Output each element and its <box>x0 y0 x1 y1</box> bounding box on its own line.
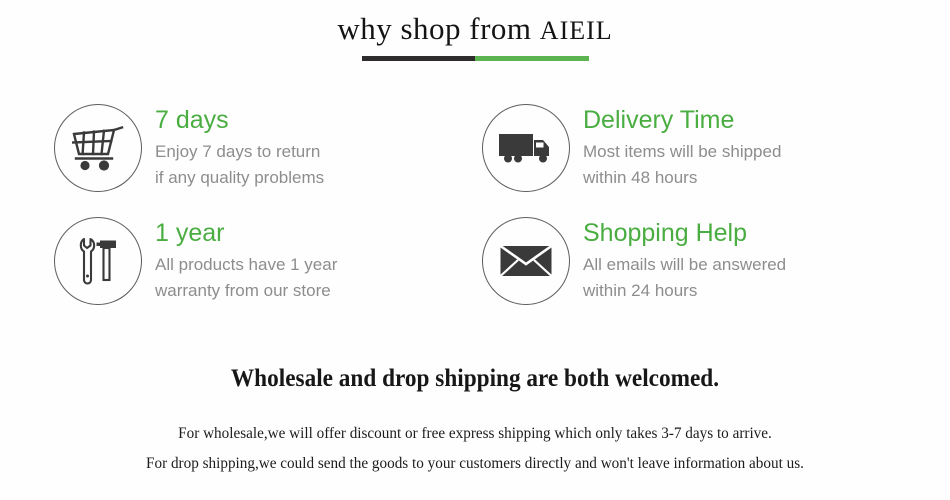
footer-copy: Wholesale and drop shipping are both wel… <box>0 364 950 475</box>
feature-line-1: All products have 1 year <box>155 252 337 278</box>
feature-line-2: within 24 hours <box>583 278 786 304</box>
feature-item-7-days: 7 days Enjoy 7 days to return if any qua… <box>54 104 324 192</box>
tools-wrench-hammer-icon <box>54 217 142 305</box>
feature-item-delivery-time: Delivery Time Most items will be shipped… <box>482 104 781 192</box>
page-title: why shop from AIEIL <box>0 10 950 49</box>
banner-header: why shop from AIEIL <box>0 10 950 61</box>
feature-text-block: 7 days Enjoy 7 days to return if any qua… <box>155 104 324 191</box>
feature-line-2: if any quality problems <box>155 165 324 191</box>
feature-text-block: Shopping Help All emails will be answere… <box>583 217 786 304</box>
feature-text-block: 1 year All products have 1 year warranty… <box>155 217 337 304</box>
feature-text-block: Delivery Time Most items will be shipped… <box>583 104 781 191</box>
delivery-truck-icon <box>482 104 570 192</box>
footer-line-dropshipping: For drop shipping,we could send the good… <box>24 452 927 475</box>
shopping-cart-icon <box>54 104 142 192</box>
page-title-main: why shop from <box>337 11 539 46</box>
feature-line-1: Enjoy 7 days to return <box>155 139 324 165</box>
feature-title: Shopping Help <box>583 219 786 248</box>
feature-grid: 7 days Enjoy 7 days to return if any qua… <box>0 104 950 319</box>
footer-headline: Wholesale and drop shipping are both wel… <box>33 364 917 394</box>
feature-line-1: All emails will be answered <box>583 252 786 278</box>
why-shop-banner: why shop from AIEIL <box>0 0 950 500</box>
feature-line-2: warranty from our store <box>155 278 337 304</box>
feature-title: 7 days <box>155 106 324 135</box>
feature-line-2: within 48 hours <box>583 165 781 191</box>
envelope-icon <box>482 217 570 305</box>
feature-line-1: Most items will be shipped <box>583 139 781 165</box>
feature-title: Delivery Time <box>583 106 781 135</box>
rule-segment-green <box>475 56 589 61</box>
feature-item-shopping-help: Shopping Help All emails will be answere… <box>482 217 786 305</box>
rule-segment-dark <box>362 56 476 61</box>
feature-title: 1 year <box>155 219 337 248</box>
brand-name: AIEIL <box>540 16 613 45</box>
feature-item-1-year: 1 year All products have 1 year warranty… <box>54 217 337 305</box>
title-underline-rule <box>362 56 589 61</box>
footer-line-wholesale: For wholesale,we will offer discount or … <box>24 422 927 445</box>
